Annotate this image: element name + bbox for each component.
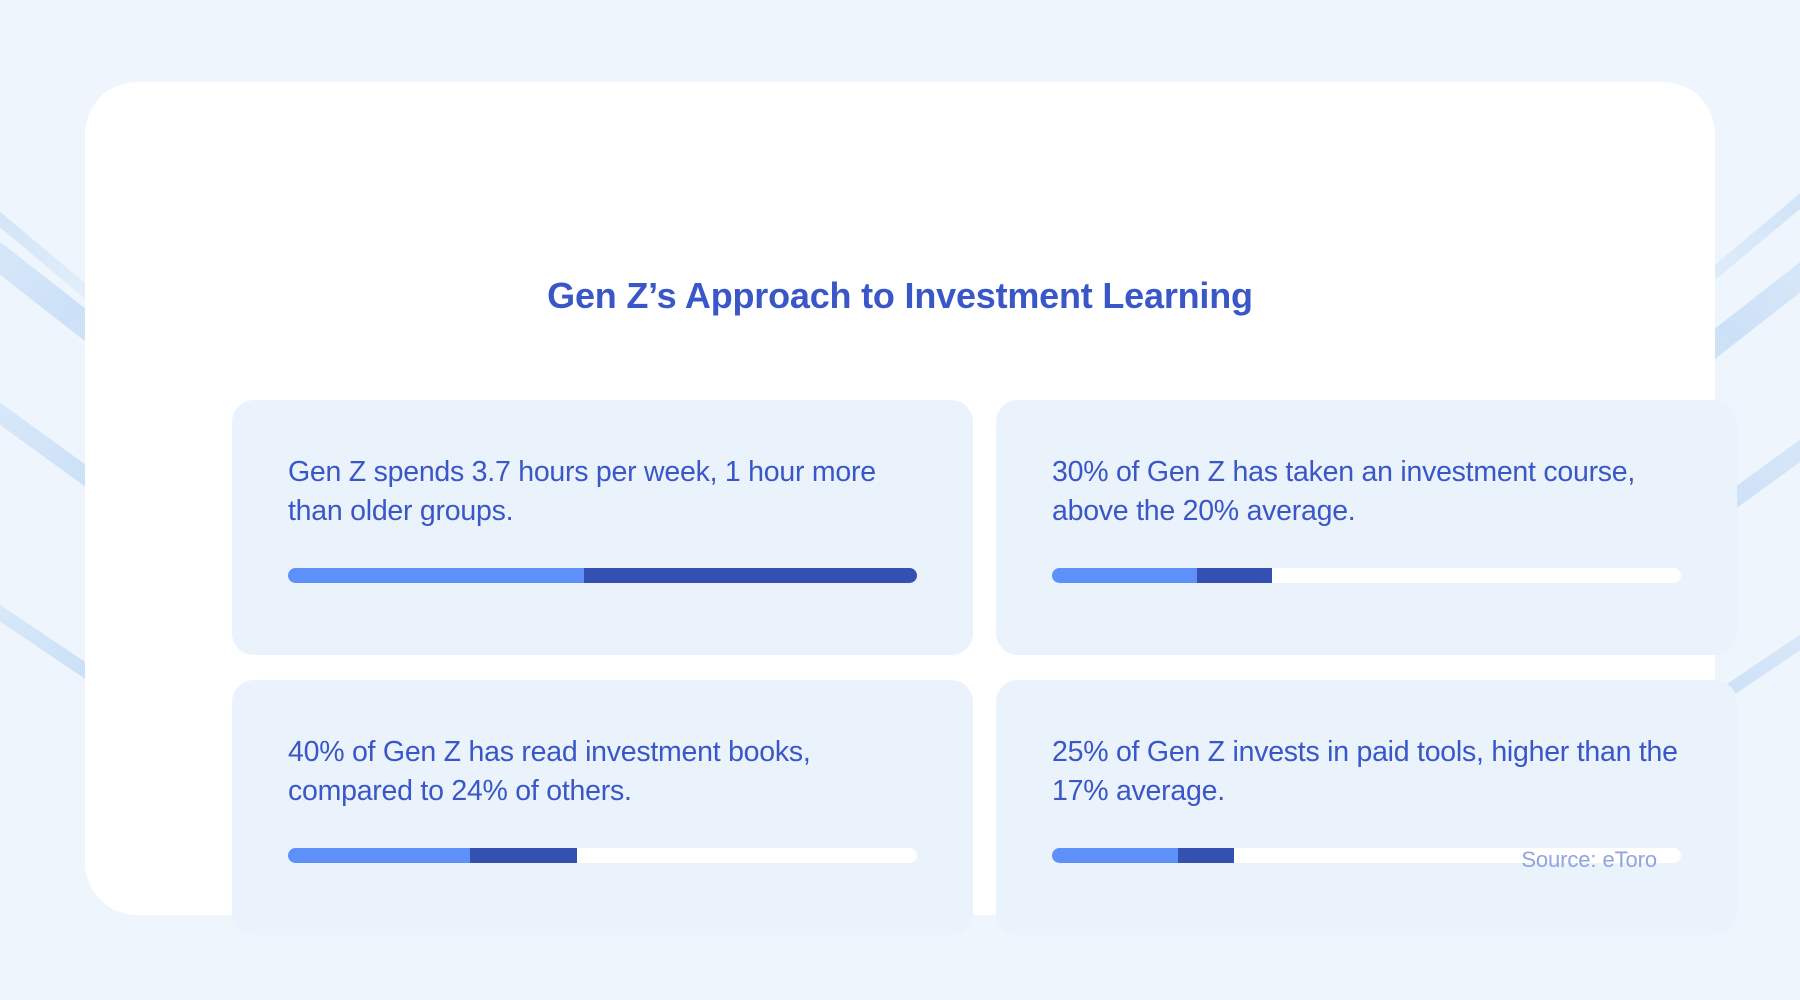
stat-card-paid-tools: 25% of Gen Z invests in paid tools, high… [996,680,1737,935]
infographic-panel: Gen Z’s Approach to Investment Learning … [85,82,1715,915]
progress-segment-comparison [1197,568,1272,583]
stat-card-investment-course: 30% of Gen Z has taken an investment cou… [996,400,1737,655]
progress-segment-comparison [470,848,577,863]
stat-card-text: 30% of Gen Z has taken an investment cou… [1052,453,1681,531]
stat-card-hours-per-week: Gen Z spends 3.7 hours per week, 1 hour … [232,400,973,655]
stat-card-text: 40% of Gen Z has read investment books, … [288,733,917,811]
progress-bar [288,568,917,583]
stat-card-investment-books: 40% of Gen Z has read investment books, … [232,680,973,935]
progress-segment-genz [288,568,584,583]
stat-card-text: 25% of Gen Z invests in paid tools, high… [1052,733,1681,811]
progress-segment-comparison [1178,848,1235,863]
progress-segment-genz [1052,848,1178,863]
progress-segment-comparison [584,568,917,583]
progress-segment-genz [1052,568,1197,583]
source-caption: Source: eToro [1521,847,1657,873]
stat-card-grid: Gen Z spends 3.7 hours per week, 1 hour … [232,400,1737,935]
progress-segment-genz [288,848,470,863]
progress-bar [1052,568,1681,583]
progress-bar [288,848,917,863]
stat-card-text: Gen Z spends 3.7 hours per week, 1 hour … [288,453,917,531]
page-title: Gen Z’s Approach to Investment Learning [85,274,1715,317]
